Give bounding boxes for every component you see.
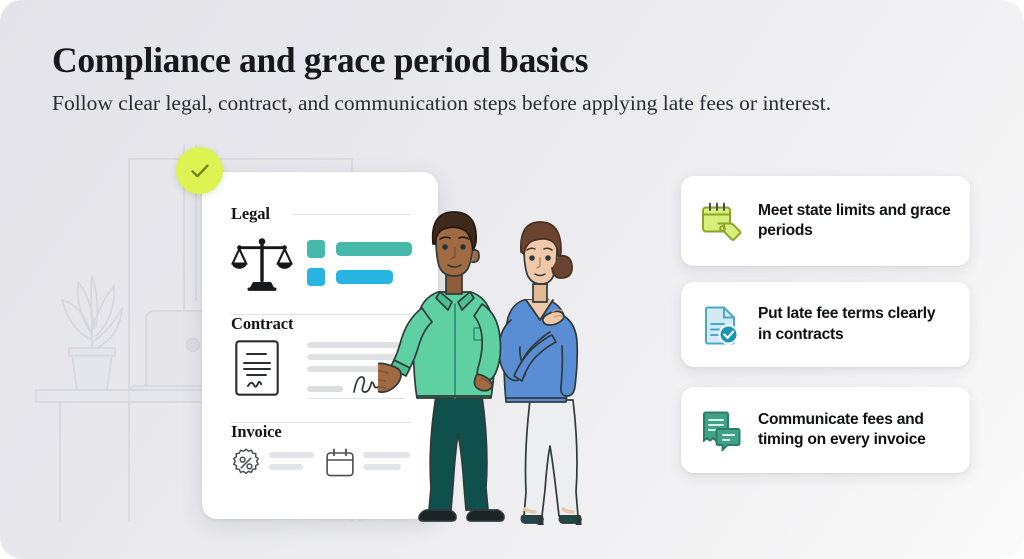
highlight-card-1-label: Meet state limits and grace periods <box>758 201 952 242</box>
page-title: Compliance and grace period basics <box>52 40 952 81</box>
highlight-card-2-label: Put late fee terms clearly in contracts <box>758 304 952 345</box>
highlight-card-2[interactable]: Put late fee terms clearly in contracts <box>681 282 970 367</box>
calendar-icon <box>326 448 354 478</box>
highlight-card-1[interactable]: Meet state limits and grace periods <box>681 176 970 266</box>
signed-document-icon <box>235 340 279 396</box>
legal-bullet-square-2 <box>307 268 325 286</box>
doc-section-legal-label: Legal <box>231 204 270 224</box>
legal-bullet-square-1 <box>307 240 325 258</box>
percent-badge-icon <box>231 448 261 478</box>
invoice-line <box>269 464 303 470</box>
invoice-line <box>269 452 314 458</box>
two-people-illustration <box>378 200 648 525</box>
check-icon <box>187 158 213 184</box>
calendar-tag-icon <box>699 199 743 243</box>
page-subtitle: Follow clear legal, contract, and commun… <box>52 90 952 117</box>
header: Compliance and grace period basics Follo… <box>52 40 952 117</box>
doc-section-contract-label: Contract <box>231 314 293 334</box>
infographic-canvas: Compliance and grace period basics Follo… <box>0 0 1024 559</box>
contract-name-line <box>307 386 343 392</box>
highlight-card-3-label: Communicate fees and timing on every inv… <box>758 410 952 451</box>
invoice-chat-icon <box>699 408 743 452</box>
doc-section-invoice-label: Invoice <box>231 422 282 442</box>
check-badge <box>176 147 223 194</box>
scales-of-justice-icon <box>231 232 293 294</box>
contract-text-line <box>307 366 383 372</box>
document-check-icon <box>699 303 743 347</box>
highlight-card-3[interactable]: Communicate fees and timing on every inv… <box>681 387 970 473</box>
